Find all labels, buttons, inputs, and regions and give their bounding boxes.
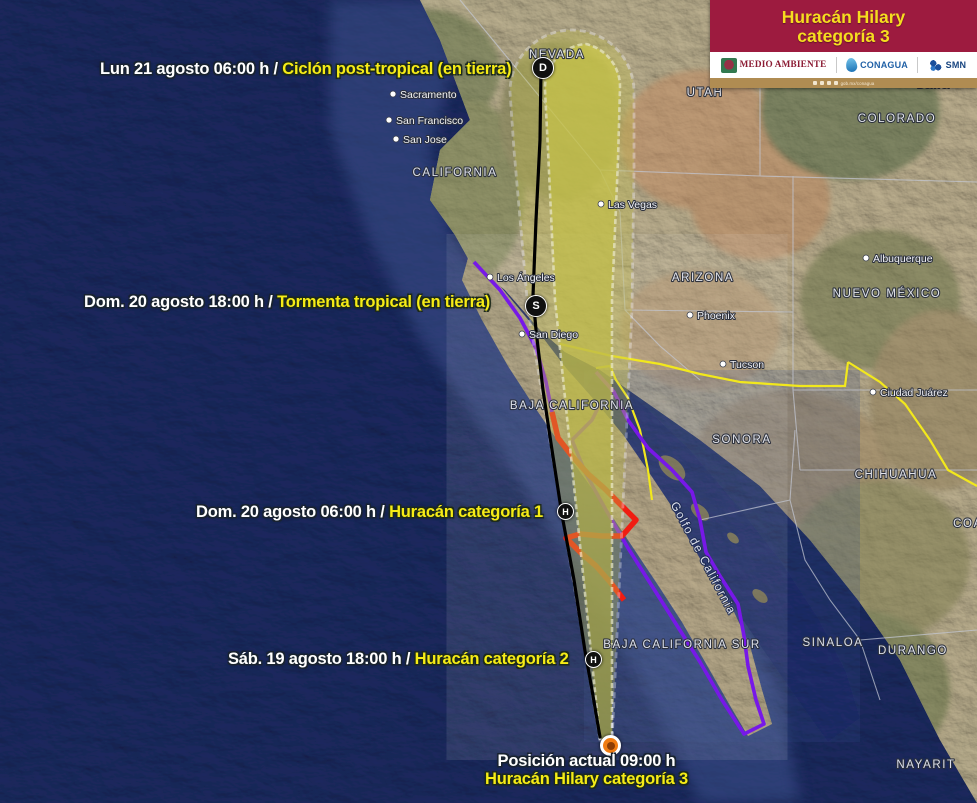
logo-medio-ambiente: MEDIO AMBIENTE xyxy=(721,58,827,73)
map-label: San Diego xyxy=(529,329,578,341)
forecast-label-post-tropical: Lun 21 agosto 06:00 h / Ciclón post-trop… xyxy=(100,60,511,78)
forecast-label-hurricane-cat1: Dom. 20 agosto 06:00 h / Huracán categor… xyxy=(196,503,543,521)
forecast-label-hurricane-cat2: Sáb. 19 agosto 18:00 h / Huracán categor… xyxy=(228,650,569,668)
banner-social-strip: gob.mx/conagua xyxy=(710,78,977,88)
forecast-label-tropical-storm: Dom. 20 agosto 18:00 h / Tormenta tropic… xyxy=(84,293,490,311)
banner-title-bar: Huracán Hilary categoría 3 xyxy=(710,0,977,52)
map-label: Sacramento xyxy=(400,89,457,101)
map-label: Tucson xyxy=(730,359,764,371)
city-dot xyxy=(870,389,876,395)
map-label: NAYARIT xyxy=(896,759,955,771)
forecast-date-tropical-storm: Dom. 20 agosto 18:00 h / xyxy=(84,293,273,311)
banner-title-line1: Huracán Hilary xyxy=(782,8,906,27)
facebook-icon[interactable] xyxy=(813,81,817,85)
map-label: DURANGO xyxy=(878,645,948,657)
social-handle: gob.mx/conagua xyxy=(841,81,875,86)
city-dot xyxy=(598,201,604,207)
city-dot xyxy=(386,117,392,123)
forecast-marker-hurricane-cat1[interactable]: H xyxy=(557,503,574,520)
map-label: Phoenix xyxy=(697,310,736,322)
forecast-status-hurricane-cat1: Huracán categoría 1 xyxy=(389,503,543,521)
logo-medio-ambiente-text: MEDIO AMBIENTE xyxy=(740,60,827,69)
logo-smn: SMN xyxy=(928,58,967,73)
map-label: Los Ángeles xyxy=(497,271,555,284)
city-dot xyxy=(393,136,399,142)
map-label: Albuquerque xyxy=(873,253,933,265)
city-dot xyxy=(720,361,726,367)
conagua-banner: Huracán Hilary categoría 3 MEDIO AMBIENT… xyxy=(710,0,977,88)
map-label: UTAH xyxy=(687,87,724,99)
satellite-basemap: NEVADACALIFORNIAUTAHCOLORADOARIZONANUEVO… xyxy=(0,0,977,803)
forecast-status-post-tropical: Ciclón post-tropical (en tierra) xyxy=(282,60,511,78)
map-label: SINALOA xyxy=(802,637,863,649)
city-dot xyxy=(519,331,525,337)
banner-title-line2: categoría 3 xyxy=(797,27,889,46)
logo-smn-text: SMN xyxy=(946,61,967,70)
logo-conagua-text: CONAGUA xyxy=(860,61,908,70)
forecast-status-hurricane-cat2: Huracán categoría 2 xyxy=(415,650,569,668)
map-label: San Jose xyxy=(403,134,447,146)
map-label: BAJA CALIFORNIA xyxy=(510,400,634,412)
mexican-eagle-icon xyxy=(721,58,737,73)
forecast-status-tropical-storm: Tormenta tropical (en tierra) xyxy=(277,293,490,311)
forecast-marker-post-tropical[interactable]: D xyxy=(532,57,554,79)
map-label: San Francisco xyxy=(396,115,463,127)
map-label: COLORADO xyxy=(858,113,937,125)
map-label: CHIHUAHUA xyxy=(855,469,938,481)
twitter-icon[interactable] xyxy=(820,81,824,85)
map-label: CALIFORNIA xyxy=(412,167,497,179)
smn-emblem-icon xyxy=(928,58,943,73)
city-dot xyxy=(863,255,869,261)
forecast-date-hurricane-cat1: Dom. 20 agosto 06:00 h / xyxy=(196,503,385,521)
map-label: COA xyxy=(953,518,977,530)
banner-logo-strip: MEDIO AMBIENTE CONAGUA SMN xyxy=(710,52,977,78)
city-dot xyxy=(687,312,693,318)
city-dot xyxy=(390,91,396,97)
forecast-marker-hurricane-cat2[interactable]: H xyxy=(585,651,602,668)
hurricane-forecast-map: NEVADACALIFORNIAUTAHCOLORADOARIZONANUEVO… xyxy=(0,0,977,803)
logo-conagua: CONAGUA xyxy=(846,58,908,72)
current-position-category: Huracán Hilary categoría 3 xyxy=(485,770,688,788)
map-label: Las Vegas xyxy=(608,199,657,211)
instagram-icon[interactable] xyxy=(827,81,831,85)
city-dot xyxy=(487,274,493,280)
map-label: BAJA CALIFORNIA SUR xyxy=(603,639,761,651)
map-label: ARIZONA xyxy=(672,272,734,284)
forecast-date-hurricane-cat2: Sáb. 19 agosto 18:00 h / xyxy=(228,650,410,668)
forecast-date-post-tropical: Lun 21 agosto 06:00 h / xyxy=(100,60,278,78)
water-drop-icon xyxy=(845,57,858,72)
forecast-marker-tropical-storm[interactable]: S xyxy=(525,295,547,317)
logo-divider xyxy=(917,57,918,73)
map-label: NUEVO MÉXICO xyxy=(833,287,942,300)
logo-divider xyxy=(836,57,837,73)
youtube-icon[interactable] xyxy=(834,81,838,85)
map-label: Ciudad Juárez xyxy=(880,387,948,399)
current-position-time: Posición actual 09:00 h xyxy=(498,752,676,770)
map-label: SONORA xyxy=(712,434,771,446)
current-position-label: Posición actual 09:00 h Huracán Hilary c… xyxy=(485,752,688,789)
